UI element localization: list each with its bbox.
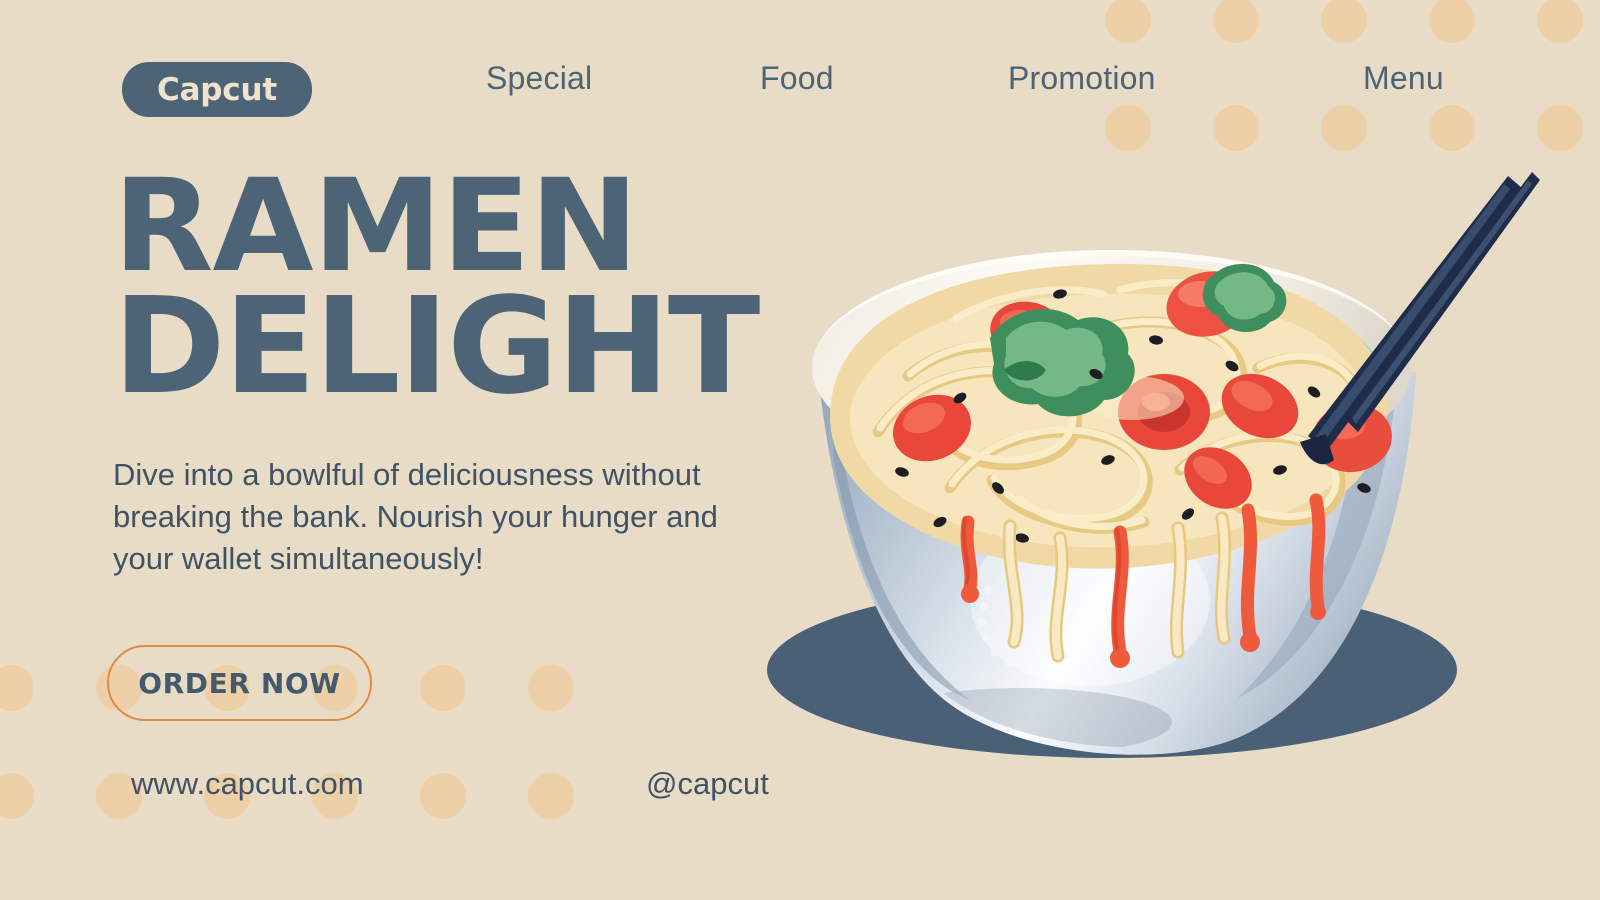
- hero-subtext: Dive into a bowlful of deliciousness wit…: [113, 454, 773, 580]
- order-now-label: ORDER NOW: [138, 667, 341, 700]
- nav-item-food[interactable]: Food: [760, 60, 834, 97]
- decorative-dot: [420, 773, 466, 819]
- brand-logo[interactable]: Capcut: [122, 62, 312, 117]
- headline-line-1: RAMEN: [113, 168, 827, 286]
- nav-item-menu[interactable]: Menu: [1363, 60, 1444, 97]
- noodle-mass: [830, 263, 1396, 569]
- hero-copy-block: RAMEN DELIGHT Dive into a bowlful of del…: [113, 168, 813, 580]
- decorative-dot: [420, 665, 466, 711]
- site-header: Capcut Special Food Promotion Menu: [0, 0, 1600, 160]
- footer-social-handle[interactable]: @capcut: [646, 766, 769, 802]
- brand-logo-text: Capcut: [157, 72, 277, 108]
- decorative-dot: [0, 773, 34, 819]
- decorative-dot: [528, 773, 574, 819]
- nav-item-special[interactable]: Special: [486, 60, 592, 97]
- decorative-dot: [528, 665, 574, 711]
- page-title: RAMEN DELIGHT: [113, 168, 827, 408]
- headline-line-2: DELIGHT: [113, 286, 827, 408]
- footer-website-url[interactable]: www.capcut.com: [131, 766, 364, 802]
- decorative-dot: [0, 665, 34, 711]
- order-now-button[interactable]: ORDER NOW: [107, 645, 372, 721]
- nav-item-promotion[interactable]: Promotion: [1008, 60, 1156, 97]
- ramen-bowl-illustration: [760, 170, 1540, 790]
